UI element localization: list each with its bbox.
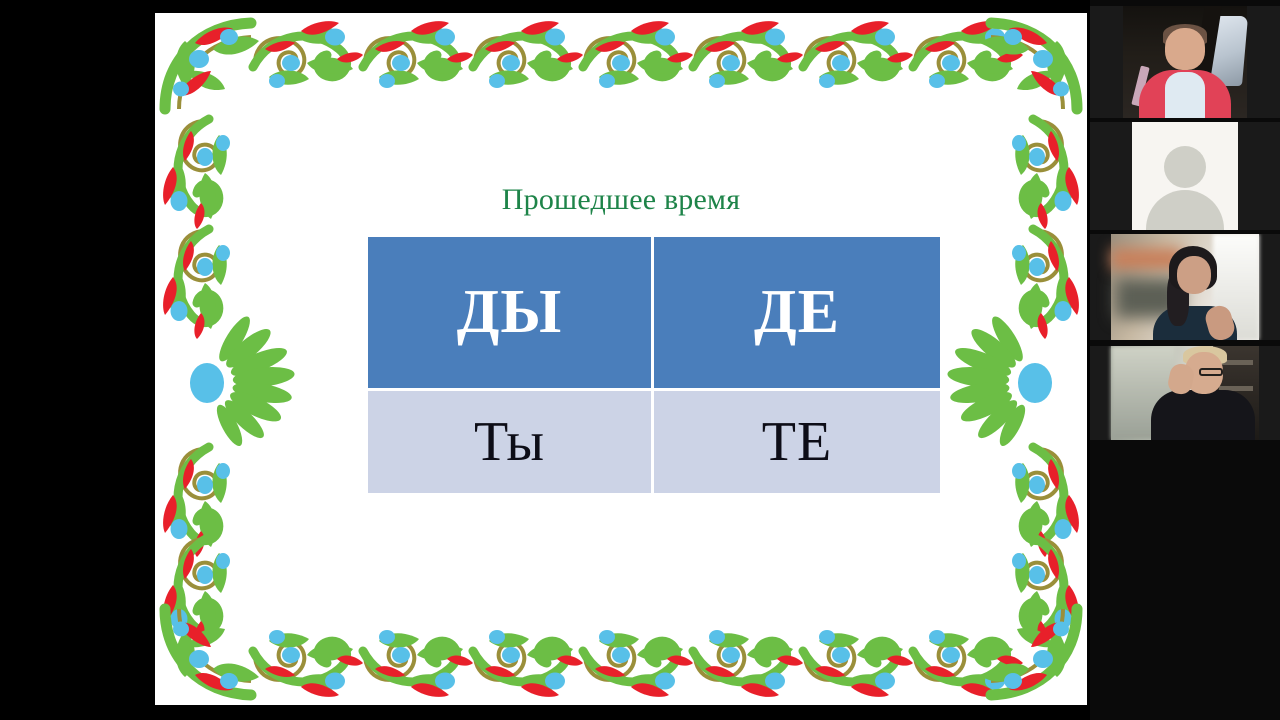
- video-tile-participant-4[interactable]: [1090, 346, 1280, 440]
- table-cell-header-2: ДЕ: [654, 237, 940, 388]
- video-tile-participant-2[interactable]: [1090, 122, 1280, 230]
- video-feed-desk: [1090, 234, 1280, 340]
- word-forms-table: ДЫ ДЕ Ты ТЕ: [368, 237, 940, 493]
- video-tile-participant-3[interactable]: [1090, 234, 1280, 340]
- presentation-slide: Прошедшее время ДЫ ДЕ Ты ТЕ: [155, 13, 1087, 705]
- table-row-body: Ты ТЕ: [368, 388, 940, 493]
- table-cell-body-2: ТЕ: [654, 388, 940, 493]
- slide-content: Прошедшее время ДЫ ДЕ Ты ТЕ: [155, 13, 1087, 705]
- table-cell-header-1: ДЫ: [368, 237, 654, 388]
- video-tile-participant-1[interactable]: [1090, 6, 1280, 118]
- video-feed-glasses: [1090, 346, 1280, 440]
- video-feed-car: [1090, 6, 1280, 118]
- table-row-header: ДЫ ДЕ: [368, 237, 940, 388]
- table-cell-body-1: Ты: [368, 388, 654, 493]
- slide-canvas: Прошедшее время ДЫ ДЕ Ты ТЕ: [155, 13, 1087, 705]
- screen-root: Прошедшее время ДЫ ДЕ Ты ТЕ: [0, 0, 1280, 720]
- slide-title: Прошедшее время: [155, 183, 1087, 217]
- avatar-placeholder-icon: [1090, 122, 1280, 230]
- video-participants-panel: [1090, 0, 1280, 720]
